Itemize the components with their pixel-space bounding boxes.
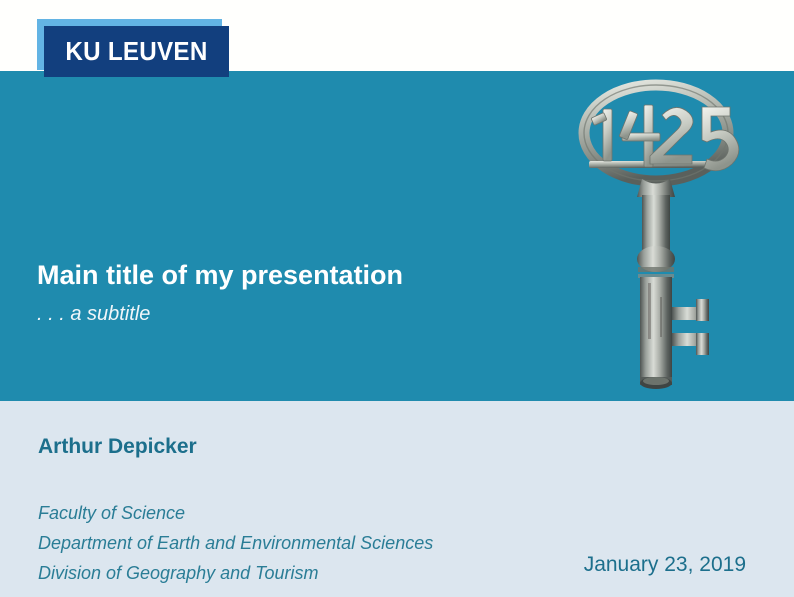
ku-leuven-logo: KU LEUVEN [37,19,229,77]
affiliation-line: Division of Geography and Tourism [38,558,433,588]
title-slide: KU LEUVEN [0,0,794,597]
page-subtitle: . . . a subtitle [37,300,557,328]
author-name: Arthur Depicker [38,434,197,460]
logo-text: KU LEUVEN [65,36,207,67]
affiliation-line: Department of Earth and Environmental Sc… [38,528,433,558]
page-title: Main title of my presentation [37,258,557,292]
presentation-date: January 23, 2019 [584,552,746,578]
logo-box: KU LEUVEN [44,26,229,77]
title-band [0,71,794,401]
title-block: Main title of my presentation . . . a su… [37,258,557,328]
affiliation-list: Faculty of Science Department of Earth a… [38,498,433,588]
affiliation-line: Faculty of Science [38,498,433,528]
